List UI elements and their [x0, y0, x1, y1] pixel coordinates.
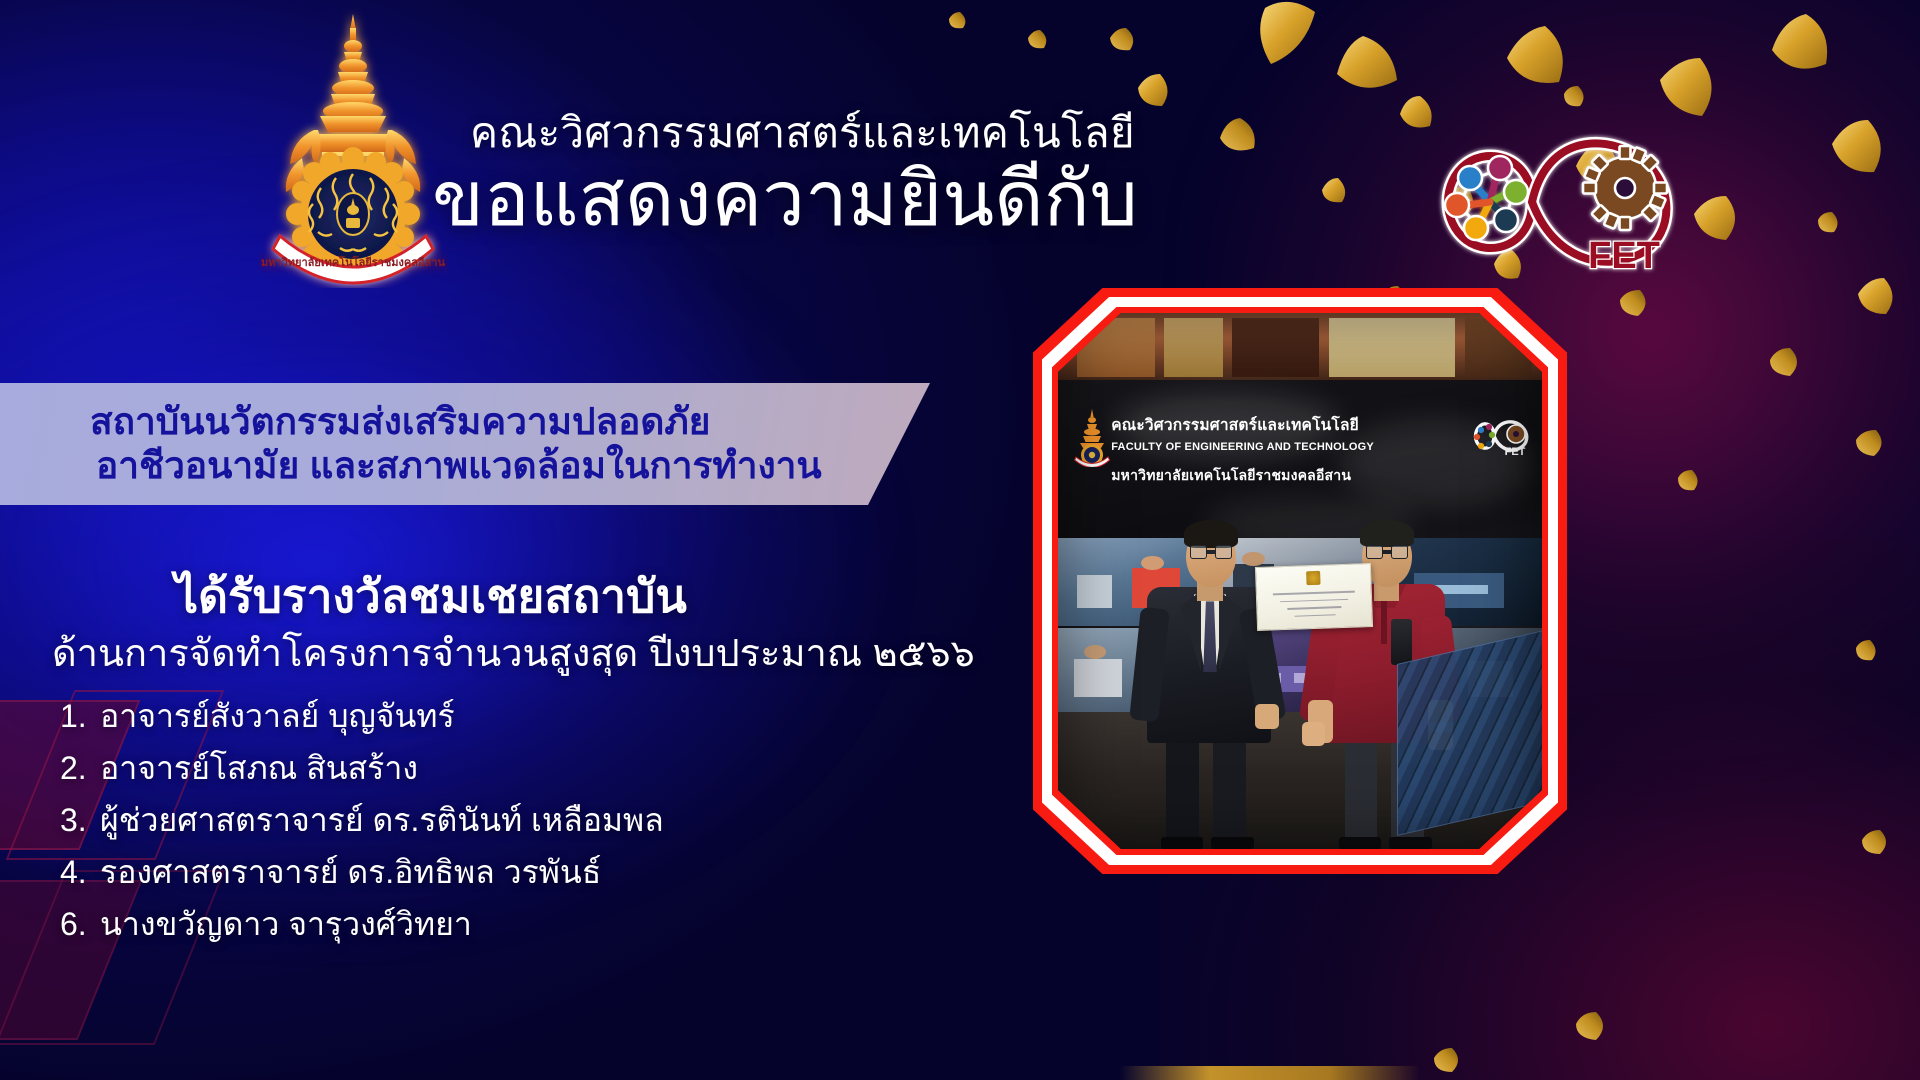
- photo-ceiling-panel: [1164, 318, 1222, 377]
- bottom-gold-accent: [1120, 1066, 1420, 1080]
- list-item-number: 1.: [60, 700, 90, 732]
- photo-backdrop-title: คณะวิศวกรรมศาสตร์และเทคโนโลยี: [1111, 412, 1359, 437]
- institute-line-1: สถาบันนวัตกรรมส่งเสริมความปลอดภัย: [90, 400, 960, 444]
- list-item: 4. รองศาสตราจารย์ ดร.อิทธิพล วรพันธ์: [60, 856, 940, 888]
- photo-backdrop-subtitle: FACULTY OF ENGINEERING AND TECHNOLOGY: [1111, 441, 1374, 453]
- photo-fet-wordmark: FET: [1505, 446, 1526, 457]
- award-subtitle: ด้านการจัดทำโครงการจำนวนสูงสุด ปีงบประมา…: [52, 622, 952, 683]
- list-item: 3. ผู้ช่วยศาสตราจารย์ ดร.รตินันท์ เหลือม…: [60, 804, 940, 836]
- photo-person-left: [1116, 495, 1310, 849]
- list-item-name: อาจารย์โสภณ สินสร้าง: [100, 752, 418, 784]
- list-item-number: 3.: [60, 804, 90, 836]
- institute-line-2: อาชีวอนามัย และสภาพแวดล้อมในการทำงาน: [90, 444, 960, 488]
- list-item-name: นางขวัญดาว จารุวงศ์วิทยา: [100, 908, 472, 940]
- seal-ribbon-text: มหาวิทยาลัยเทคโนโลยีราชมงคลอีสาน: [261, 255, 446, 269]
- list-item-number: 2.: [60, 752, 90, 784]
- list-item-number: 4.: [60, 856, 90, 888]
- banner-stage: มหาวิทยาลัยเทคโนโลยีราชมงคลอีสาน: [0, 0, 1920, 1080]
- list-item-name: อาจารย์สังวาลย์ บุญจันทร์: [100, 700, 455, 732]
- fet-wordmark: FET: [1588, 235, 1660, 277]
- list-item: 2. อาจารย์โสภณ สินสร้าง: [60, 752, 940, 784]
- photo-backdrop-seal-icon: [1070, 407, 1114, 467]
- list-item-number: 6.: [60, 908, 90, 940]
- photo-backdrop-fet-icon: FET: [1472, 415, 1532, 457]
- fet-logo-icon: FET: [1428, 118, 1720, 286]
- list-item: 1. อาจารย์สังวาลย์ บุญจันทร์: [60, 700, 940, 732]
- award-certificate: [1255, 563, 1373, 631]
- recipient-list: 1. อาจารย์สังวาลย์ บุญจันทร์ 2. อาจารย์โ…: [60, 700, 940, 960]
- list-item: 6. นางขวัญดาว จารุวงศ์วิทยา: [60, 908, 940, 940]
- list-item-name: รองศาสตราจารย์ ดร.อิทธิพล วรพันธ์: [100, 856, 601, 888]
- photo-ceiling-panel: [1232, 318, 1319, 377]
- award-photo-frame: คณะวิศวกรรมศาสตร์และเทคโนโลยี FACULTY OF…: [1033, 288, 1567, 874]
- congratulations-headline: ขอแสดงความยินดีกับ: [432, 160, 1192, 239]
- photo-backdrop-subtitle-2: มหาวิทยาลัยเทคโนโลยีราชมงคลอีสาน: [1111, 465, 1351, 487]
- photo-ceiling-panel: [1329, 318, 1455, 377]
- institute-name-banner: สถาบันนวัตกรรมส่งเสริมความปลอดภัย อาชีวอ…: [0, 383, 960, 505]
- award-ceremony-photo: คณะวิศวกรรมศาสตร์และเทคโนโลยี FACULTY OF…: [1058, 313, 1542, 849]
- list-item-name: ผู้ช่วยศาสตราจารย์ ดร.รตินันท์ เหลือมพล: [100, 804, 664, 836]
- university-seal-icon: มหาวิทยาลัยเทคโนโลยีราชมงคลอีสาน: [258, 8, 448, 288]
